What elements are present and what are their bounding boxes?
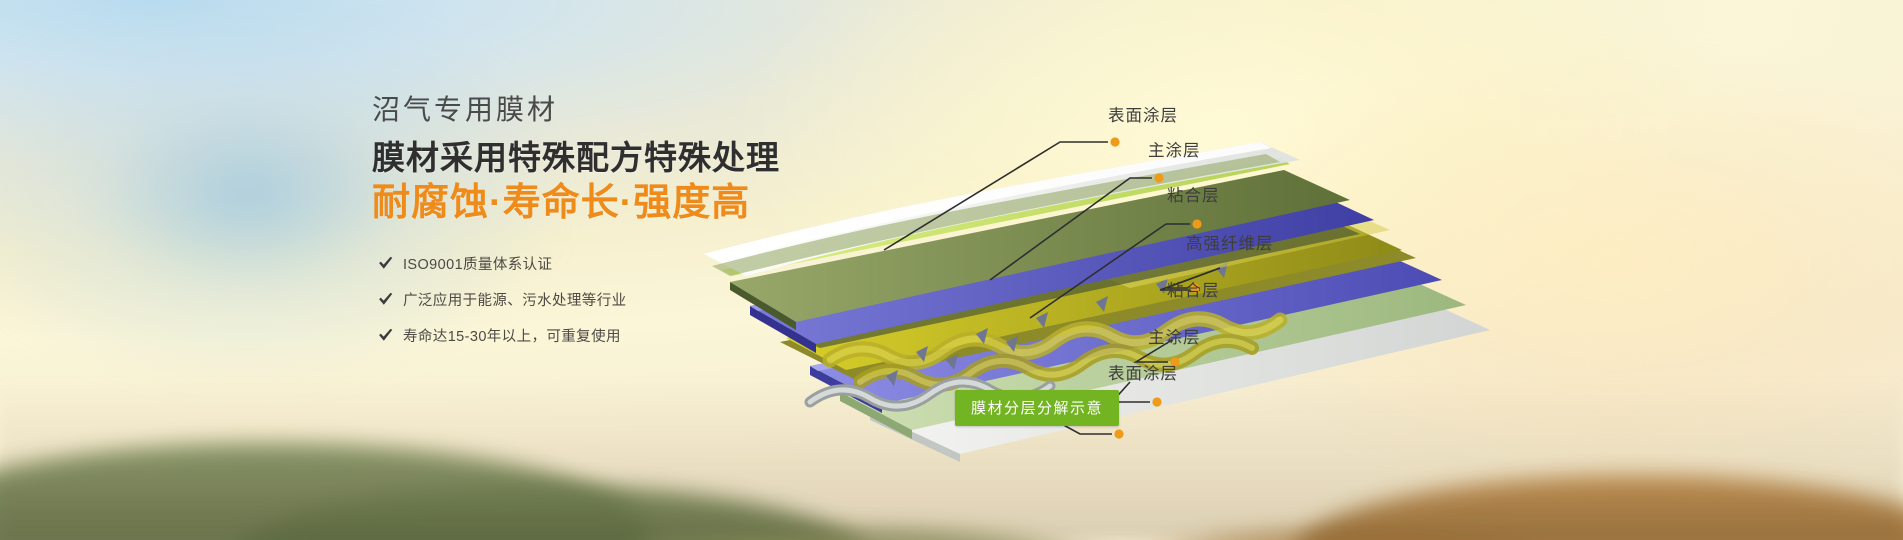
membrane-layer-illustration xyxy=(660,30,1903,540)
check-icon xyxy=(378,256,393,271)
callout-label-main-coating-top: 主涂层 xyxy=(1148,137,1201,161)
callout-label-adhesive-top: 粘合层 xyxy=(1167,182,1220,206)
callout-label-surface-coating-top: 表面涂层 xyxy=(1108,102,1178,126)
callout-label-high-strength-fiber: 高强纤维层 xyxy=(1186,230,1274,254)
callout-label-surface-coating-bottom: 表面涂层 xyxy=(1108,360,1178,384)
feature-label: 广泛应用于能源、污水处理等行业 xyxy=(403,289,627,310)
feature-label: 寿命达15-30年以上，可重复使用 xyxy=(403,325,621,346)
callout-label-main-coating-bottom: 主涂层 xyxy=(1148,324,1201,348)
diagram-caption-badge: 膜材分层分解示意 xyxy=(955,390,1119,426)
check-icon xyxy=(378,328,393,343)
promo-banner: 沼气专用膜材 膜材采用特殊配方特殊处理 耐腐蚀·寿命长·强度高 ISO9001质… xyxy=(0,0,1903,540)
feature-label: ISO9001质量体系认证 xyxy=(403,253,552,274)
callout-label-adhesive-bottom: 粘合层 xyxy=(1167,277,1220,301)
check-icon xyxy=(378,292,393,307)
